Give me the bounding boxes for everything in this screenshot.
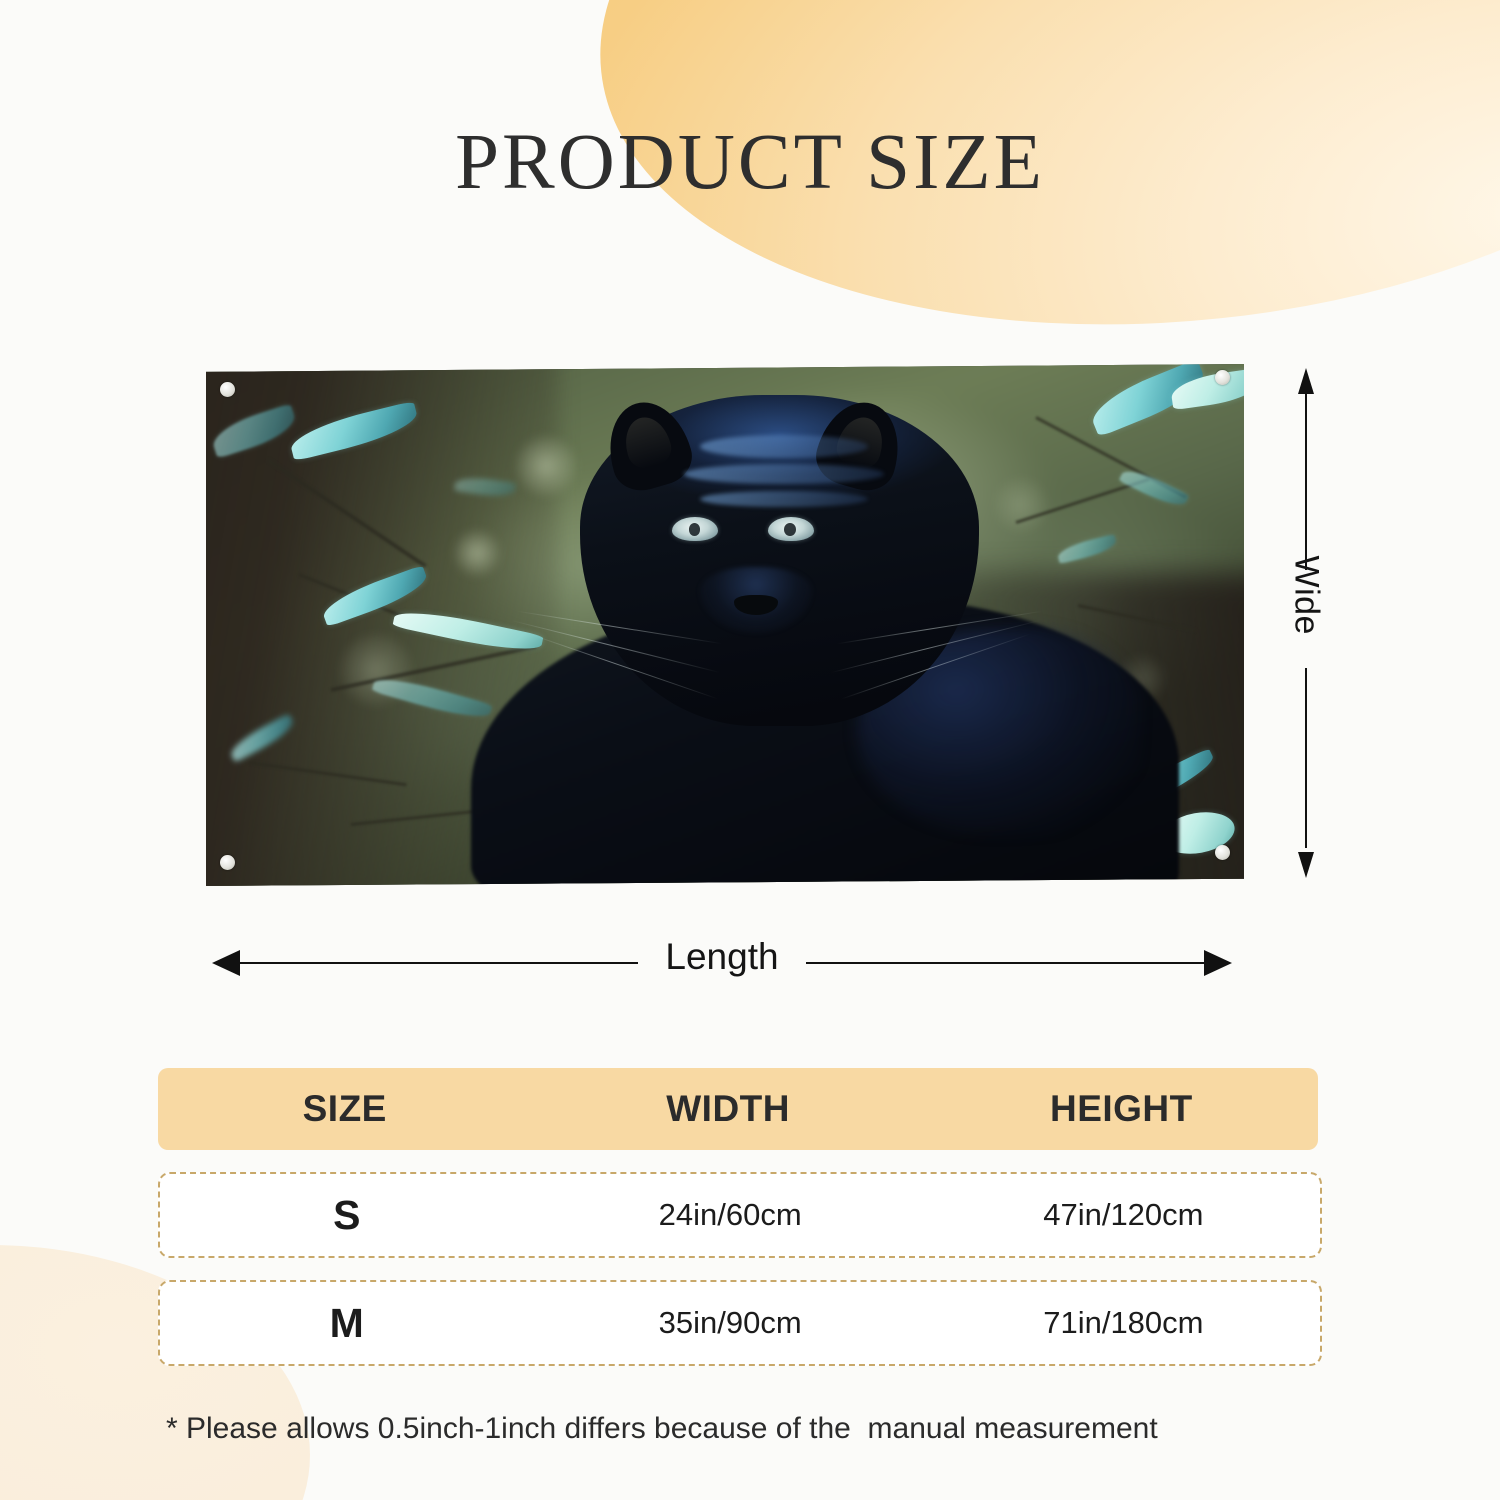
arrow-head-down-icon — [1298, 852, 1314, 878]
grommet-bottom-right — [1215, 845, 1230, 860]
forehead-stripe — [700, 435, 868, 458]
arrow-head-right-icon — [1204, 950, 1232, 976]
panther-eye-right — [768, 517, 814, 541]
grommet-bottom-left — [220, 855, 235, 870]
grommet-top-left — [220, 382, 235, 397]
cell-size: M — [160, 1300, 534, 1347]
forehead-stripe — [700, 491, 868, 508]
cell-width: 24in/60cm — [534, 1197, 927, 1233]
arrow-line-right — [806, 962, 1206, 964]
column-header-width: WIDTH — [532, 1088, 925, 1130]
size-table: SIZE WIDTH HEIGHT S 24in/60cm 47in/120cm… — [158, 1068, 1322, 1366]
product-size-infographic: PRODUCT SIZE — [0, 0, 1500, 1500]
pupil — [784, 523, 796, 536]
cell-size: S — [160, 1192, 534, 1239]
column-header-height: HEIGHT — [925, 1088, 1318, 1130]
table-header-row: SIZE WIDTH HEIGHT — [158, 1068, 1318, 1150]
grommet-top-right — [1215, 370, 1230, 385]
wide-dimension-arrow: Wide — [1298, 368, 1314, 878]
table-row: M 35in/90cm 71in/180cm — [158, 1280, 1322, 1366]
product-banner — [206, 364, 1244, 886]
column-header-size: SIZE — [158, 1088, 532, 1130]
length-dimension-label: Length — [212, 936, 1232, 978]
arrow-line-bottom — [1305, 668, 1307, 848]
panther-eye-left — [672, 517, 718, 541]
ear-inner — [619, 412, 676, 472]
measurement-footnote: * Please allows 0.5inch-1inch differs be… — [166, 1412, 1158, 1446]
wide-dimension-label: Wide — [1287, 556, 1326, 620]
length-dimension-arrow: Length — [212, 940, 1232, 986]
page-title: PRODUCT SIZE — [0, 118, 1500, 208]
pupil — [689, 523, 701, 536]
cell-height: 71in/180cm — [927, 1305, 1320, 1341]
whisker — [518, 610, 723, 643]
arrow-line-top — [1305, 390, 1307, 570]
panther-ear-left — [598, 392, 698, 497]
bokeh-light — [455, 531, 499, 575]
panther-illustration — [497, 369, 1141, 886]
panther-head — [580, 395, 979, 726]
cell-width: 35in/90cm — [534, 1305, 927, 1341]
banner-image — [206, 364, 1244, 886]
cell-height: 47in/120cm — [927, 1197, 1320, 1233]
table-row: S 24in/60cm 47in/120cm — [158, 1172, 1322, 1258]
